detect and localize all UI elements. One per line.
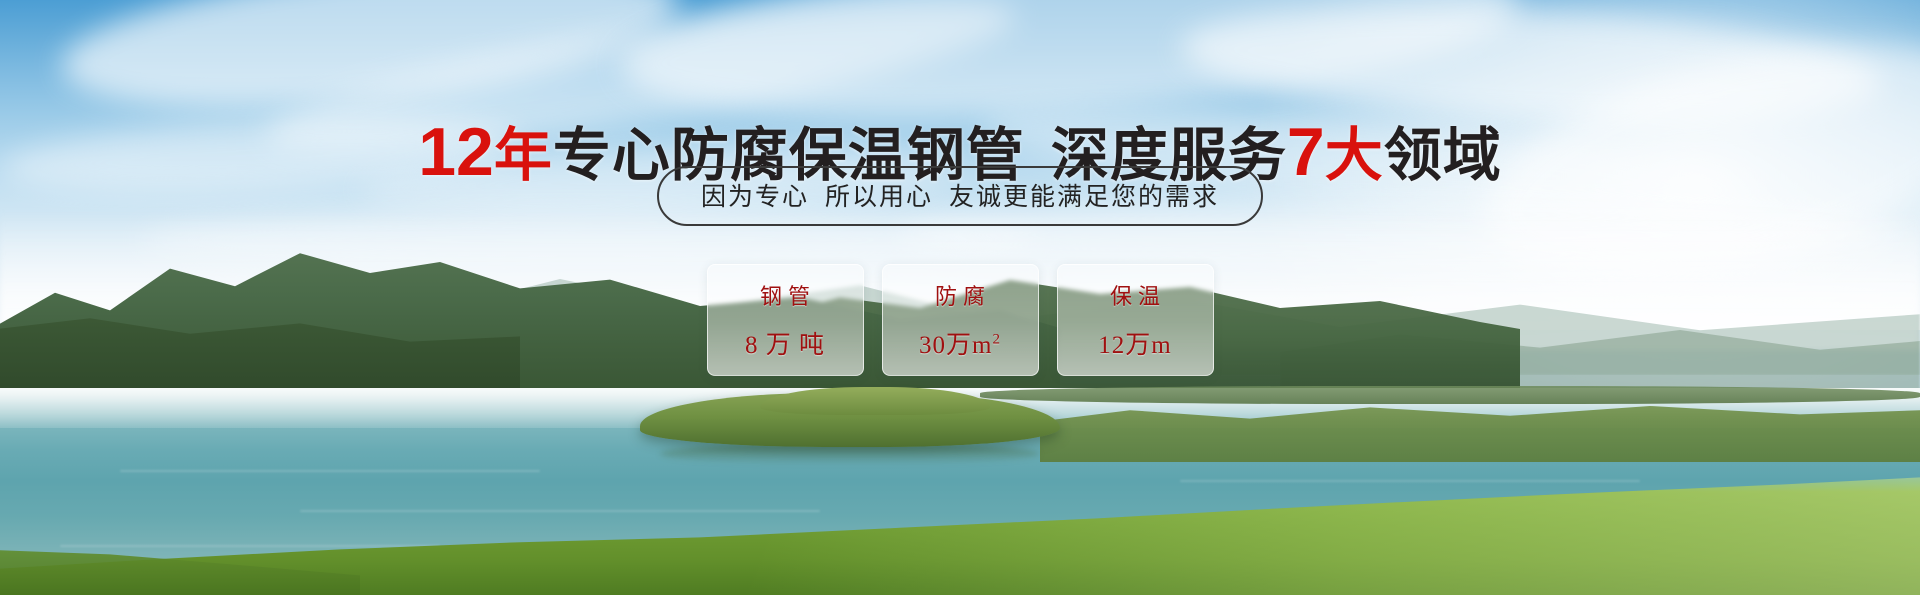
stat-value-main: 8 万 吨 xyxy=(745,332,825,359)
banner-content: 12年专心防腐保温钢管深度服务7大领域 因为专心所以用心友诚更能满足您的需求 钢… xyxy=(0,0,1920,595)
stat-card-insulation: 保温 12万m xyxy=(1057,264,1214,376)
stat-value-main: 30万m xyxy=(919,332,992,359)
stat-card-label: 钢管 xyxy=(754,279,816,311)
stat-value-main: 12万m xyxy=(1098,332,1171,359)
subtitle-part-2: 所以用心 xyxy=(825,183,933,211)
banner-subtitle-pill: 因为专心所以用心友诚更能满足您的需求 xyxy=(657,166,1263,226)
subtitle-part-3: 友诚更能满足您的需求 xyxy=(949,183,1219,211)
stat-card-label: 防腐 xyxy=(929,279,991,311)
stat-card-value: 8 万 吨 xyxy=(745,325,825,361)
stat-card-value: 30万m2 xyxy=(919,325,1001,361)
stat-card-anticorrosion: 防腐 30万m2 xyxy=(882,264,1039,376)
stat-card-value: 12万m xyxy=(1098,325,1171,361)
hero-banner: 12年专心防腐保温钢管深度服务7大领域 因为专心所以用心友诚更能满足您的需求 钢… xyxy=(0,0,1920,595)
stat-value-superscript: 2 xyxy=(992,332,1001,348)
stat-card-steel-pipe: 钢管 8 万 吨 xyxy=(707,264,864,376)
stat-card-label: 保温 xyxy=(1104,279,1166,311)
banner-subtitle-wrapper: 因为专心所以用心友诚更能满足您的需求 xyxy=(0,166,1920,226)
subtitle-part-1: 因为专心 xyxy=(701,183,809,211)
stat-card-group: 钢管 8 万 吨 防腐 30万m2 保温 12万m xyxy=(0,264,1920,376)
